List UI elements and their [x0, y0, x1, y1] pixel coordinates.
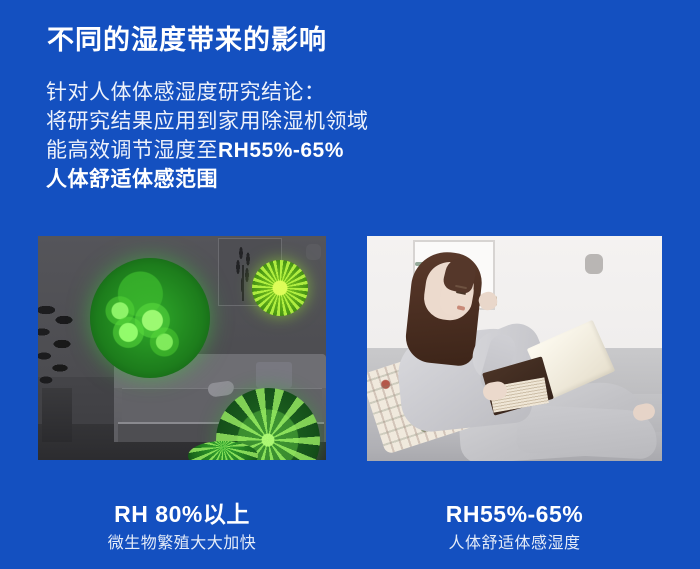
description-line-4: 人体舒适体感范围: [46, 165, 369, 194]
description-line-2: 将研究结果应用到家用除湿机领域: [46, 107, 369, 136]
caption-title: RH 80%以上: [38, 500, 326, 528]
description-line-3-highlight: RH55%-65%: [218, 139, 344, 162]
promo-slide: 不同的湿度带来的影响 针对人体体感湿度研究结论： 将研究结果应用到家用除湿机领域…: [0, 0, 700, 569]
description-line-1: 针对人体体感湿度研究结论：: [46, 78, 369, 107]
photo-comfort-humidity: [367, 236, 662, 461]
microbe-sphere-large: [90, 258, 210, 378]
sofa-pillow: [256, 362, 292, 388]
description-line-3: 能高效调节湿度至RH55%-65%: [46, 136, 369, 165]
microbe-sphere-small: [252, 260, 308, 316]
description-block: 针对人体体感湿度研究结论： 将研究结果应用到家用除湿机领域 能高效调节湿度至RH…: [46, 78, 369, 194]
caption-subtitle: 人体舒适体感湿度: [367, 532, 662, 556]
wall-thermostat-icon: [306, 244, 321, 260]
page-title: 不同的湿度带来的影响: [47, 18, 327, 57]
potted-plant-foliage: [38, 298, 92, 398]
caption-comfort-humidity: RH55%-65% 人体舒适体感湿度: [367, 500, 662, 556]
description-line-3-regular: 能高效调节湿度至: [46, 139, 218, 162]
photo-high-humidity: [38, 236, 326, 460]
wall-thermostat-icon: [585, 254, 603, 274]
caption-subtitle: 微生物繁殖大大加快: [38, 532, 326, 556]
caption-high-humidity: RH 80%以上 微生物繁殖大大加快: [38, 500, 326, 556]
plant-sketch-stem: [242, 265, 244, 301]
potted-plant-pot: [42, 388, 72, 442]
caption-title: RH55%-65%: [367, 500, 662, 528]
